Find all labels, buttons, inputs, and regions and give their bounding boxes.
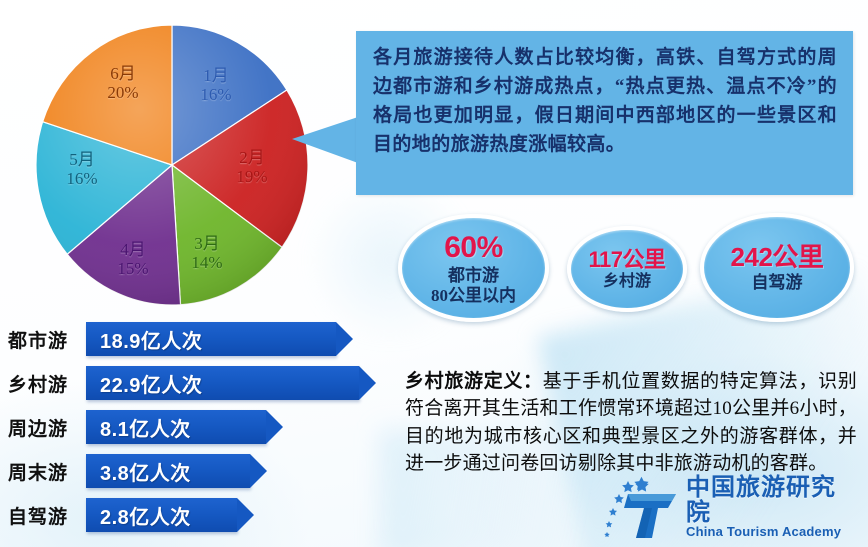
- badge-rural-value: 117公里: [589, 247, 666, 273]
- badge-urban-label: 都市游: [448, 266, 499, 286]
- bar-value-周末游: 3.8亿人次: [86, 454, 250, 488]
- monthly-share-pie-chart: 1月 16% 2月 19% 3月 14% 4月 15% 5月 16% 6月 20…: [33, 22, 311, 308]
- callout-box: 各月旅游接待人数占比较均衡，高铁、自驾方式的周边都市游和乡村游成热点，“热点更热…: [356, 31, 853, 195]
- bar-row: 周末游3.8亿人次: [0, 453, 400, 489]
- pie-label-6: 6月 20%: [90, 64, 156, 102]
- callout-text: 各月旅游接待人数占比较均衡，高铁、自驾方式的周边都市游和乡村游成热点，“热点更热…: [373, 47, 837, 155]
- bar-row: 乡村游22.9亿人次: [0, 365, 400, 401]
- bar-value-都市游: 18.9亿人次: [86, 322, 336, 356]
- bar-label-周末游: 周末游: [0, 458, 86, 485]
- bar-value-乡村游: 22.9亿人次: [86, 366, 359, 400]
- badge-drive-label: 自驾游: [752, 273, 803, 293]
- china-tourism-academy-logo: 中国旅游研究院 China Tourism Academy: [598, 474, 860, 540]
- bar-value-周边游: 8.1亿人次: [86, 410, 266, 444]
- badge-self-drive-tourism: 242公里 自驾游: [700, 213, 854, 322]
- bar-label-自驾游: 自驾游: [0, 502, 86, 529]
- callout-pointer: [292, 113, 358, 165]
- logo-t-mark-icon: [598, 474, 684, 540]
- pie-label-5: 5月 16%: [49, 150, 115, 188]
- tourism-volume-bars: 都市游18.9亿人次乡村游22.9亿人次周边游8.1亿人次周末游3.8亿人次自驾…: [0, 321, 400, 543]
- bar-row: 周边游8.1亿人次: [0, 409, 400, 445]
- badge-rural-label: 乡村游: [603, 273, 651, 292]
- logo-name-cn: 中国旅游研究院: [686, 475, 860, 525]
- logo-name-en: China Tourism Academy: [686, 525, 860, 539]
- bar-value-自驾游: 2.8亿人次: [86, 498, 237, 532]
- bar-row: 都市游18.9亿人次: [0, 321, 400, 357]
- infographic-canvas: 1月 16% 2月 19% 3月 14% 4月 15% 5月 16% 6月 20…: [0, 0, 868, 547]
- pie-label-4: 4月 15%: [100, 240, 166, 278]
- pie-label-1: 1月 16%: [183, 66, 249, 104]
- bar-label-周边游: 周边游: [0, 414, 86, 441]
- badge-drive-value: 242公里: [731, 242, 824, 273]
- bar-label-乡村游: 乡村游: [0, 370, 86, 397]
- pie-label-3: 3月 14%: [174, 234, 240, 272]
- rural-tourism-definition: 乡村旅游定义：基于手机位置数据的特定算法，识别符合离开其生活和工作惯常环境超过1…: [405, 368, 857, 477]
- bar-row: 自驾游2.8亿人次: [0, 497, 400, 533]
- badge-urban-detail: 80公里以内: [431, 286, 516, 306]
- badge-urban-value: 60%: [444, 230, 503, 265]
- definition-term: 乡村旅游定义：: [405, 371, 543, 392]
- pie-label-2: 2月 19%: [219, 148, 285, 186]
- badge-rural-tourism: 117公里 乡村游: [567, 226, 687, 312]
- badge-urban-tourism: 60% 都市游 80公里以内: [398, 214, 549, 322]
- bar-label-都市游: 都市游: [0, 326, 86, 353]
